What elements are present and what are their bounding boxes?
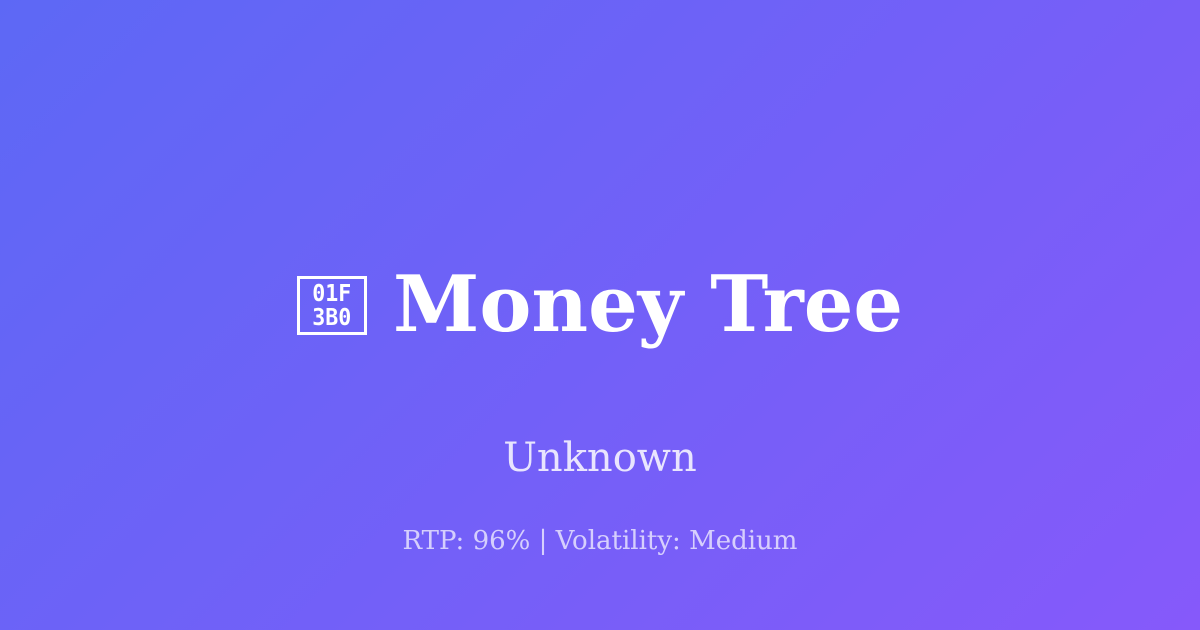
- tofu-codepoint-row-bottom: 3B0: [313, 306, 352, 330]
- meta-footer: RTP: 96% | Volatility: Medium: [0, 528, 1200, 554]
- hero-block: 01F 3B0 Money Tree Unknown: [0, 214, 1200, 478]
- game-provider-subtitle: Unknown: [503, 438, 697, 478]
- title-row: 01F 3B0 Money Tree: [0, 214, 1200, 397]
- game-stats-line: RTP: 96% | Volatility: Medium: [403, 526, 798, 556]
- slot-machine-emoji-icon: 01F 3B0: [297, 276, 367, 335]
- game-og-card: 01F 3B0 Money Tree Unknown RTP: 96% | Vo…: [0, 0, 1200, 630]
- game-title: Money Tree: [393, 266, 903, 344]
- tofu-codepoint-row-top: 01F: [313, 282, 352, 306]
